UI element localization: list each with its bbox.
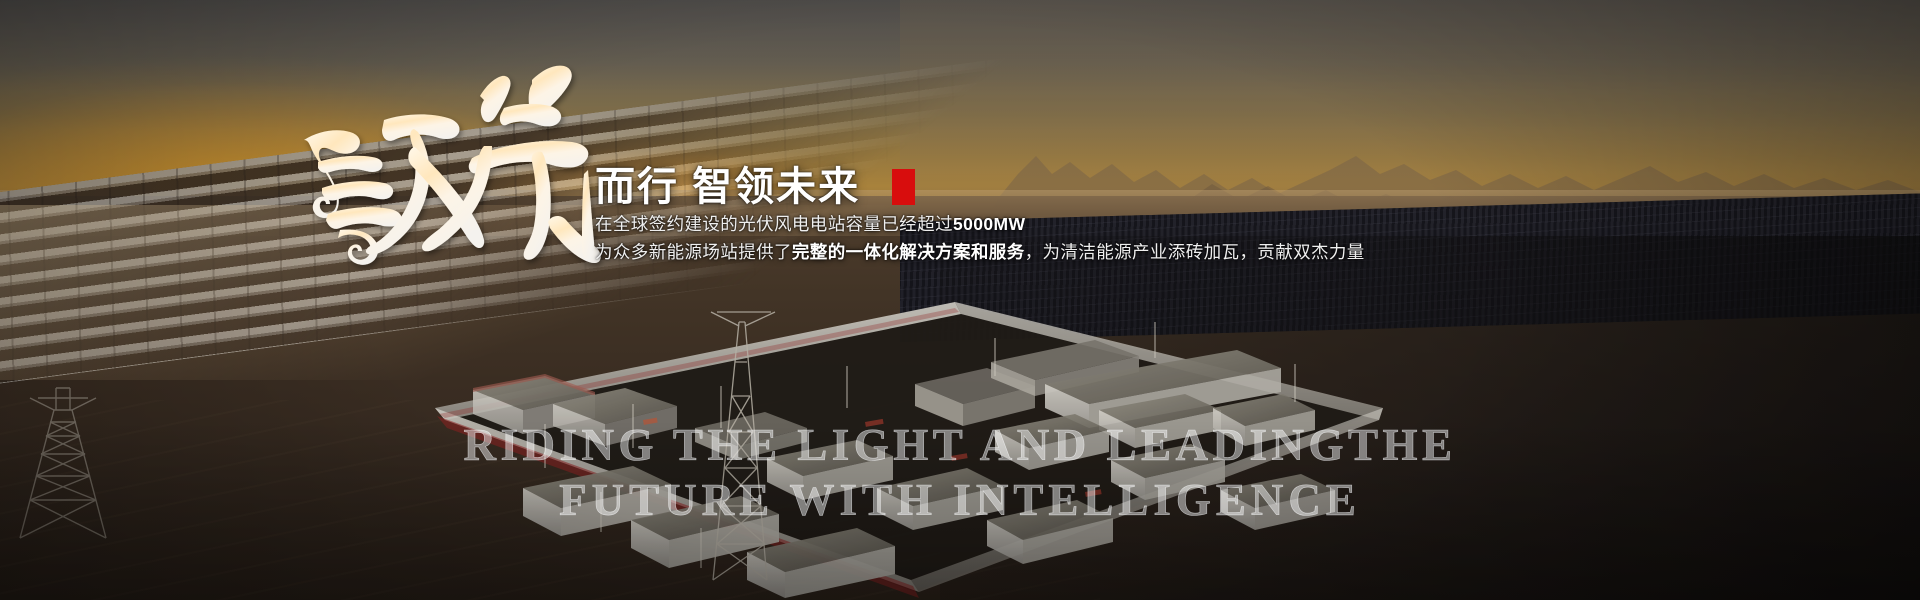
page-title: 而行 智领未来 <box>595 165 1355 210</box>
subline-2-part-1: 为众多新能源场站提供了 <box>595 242 792 262</box>
battery-storage-compound <box>395 292 1415 600</box>
subline-2-part-3: ，为清洁能源产业添砖加瓦，贡献双杰力量 <box>1025 242 1365 262</box>
subline-2: 为众多新能源场站提供了完整的一体化解决方案和服务，为清洁能源产业添砖加瓦，贡献双… <box>595 238 1355 266</box>
subline-1-part-1: 在全球签约建设的光伏风电电站容量已经超过 <box>595 214 953 234</box>
headline-accent-bar <box>892 169 915 205</box>
hero-banner: 而行 智领未来 在全球签约建设的光伏风电电站容量已经超过5000MW 为众多新能… <box>0 0 1920 600</box>
hero-copy: 而行 智领未来 在全球签约建设的光伏风电电站容量已经超过5000MW 为众多新能… <box>595 165 1355 266</box>
subline-1-part-2: 5000MW <box>953 214 1025 234</box>
transmission-pylon <box>8 380 118 540</box>
headline-text: 而行 智领未来 <box>595 165 860 210</box>
subline-2-part-2: 完整的一体化解决方案和服务 <box>792 242 1025 262</box>
calligraphy-yuguang <box>288 62 608 284</box>
subline-1: 在全球签约建设的光伏风电电站容量已经超过5000MW <box>595 210 1355 238</box>
